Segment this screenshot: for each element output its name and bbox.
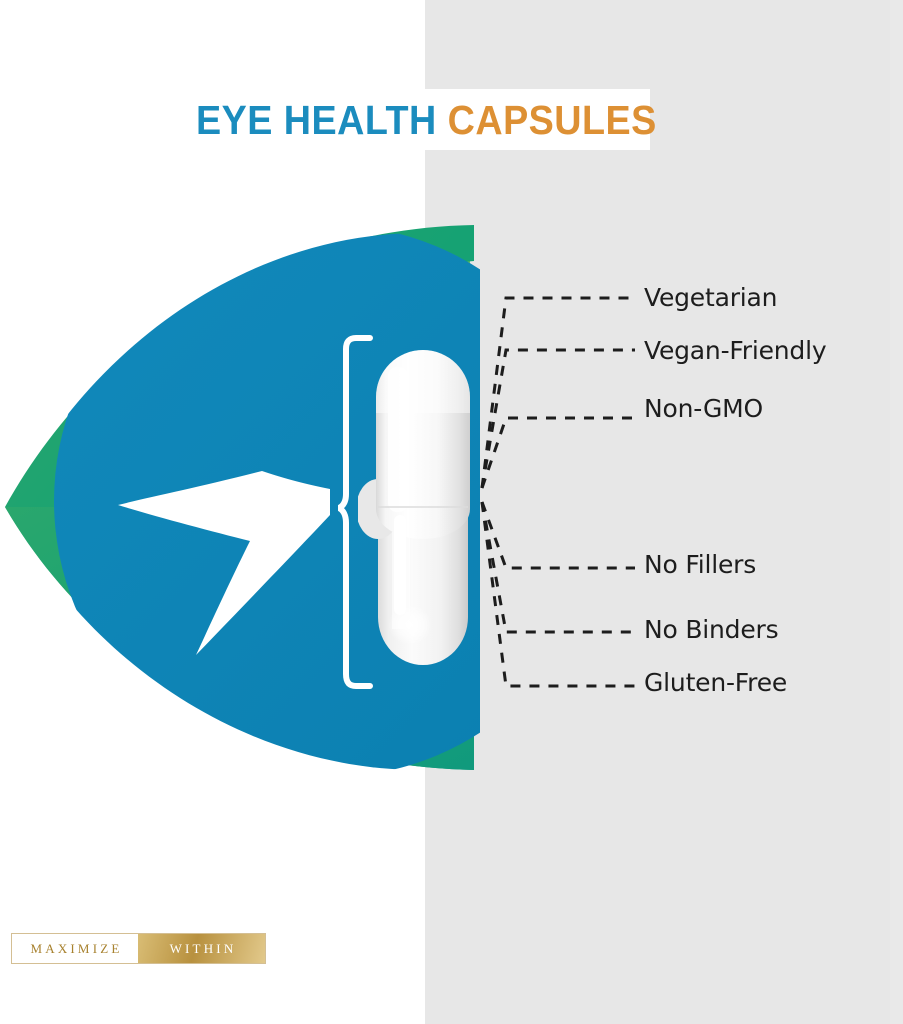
title-primary: EYE HEALTH (196, 97, 437, 143)
callout-label-vegetarian: Vegetarian (644, 283, 777, 312)
brand-logo-right-plate: WITHIN (138, 934, 265, 963)
brand-logo-left-plate: MAXIMIZE (12, 934, 138, 963)
right-background-panel (425, 0, 890, 1024)
brand-word-maximize: MAXIMIZE (27, 941, 122, 957)
brand-word-within: WITHIN (167, 941, 237, 957)
callout-label-non-gmo: Non-GMO (644, 394, 763, 423)
right-edge-strip (890, 0, 903, 1024)
infographic-canvas: EYE HEALTH CAPSULES (0, 0, 903, 1024)
capsule-measurement-label: .796" (243, 494, 305, 523)
capsule-graphic (358, 337, 488, 677)
callout-label-no-fillers: No Fillers (644, 550, 756, 579)
brand-logo: MAXIMIZE WITHIN (12, 934, 265, 963)
title-secondary: CAPSULES (437, 97, 657, 143)
callout-label-no-binders: No Binders (644, 615, 778, 644)
page-title: EYE HEALTH CAPSULES (196, 96, 619, 144)
callout-label-vegan-friendly: Vegan-Friendly (644, 336, 826, 365)
callout-label-gluten-free: Gluten-Free (644, 668, 787, 697)
